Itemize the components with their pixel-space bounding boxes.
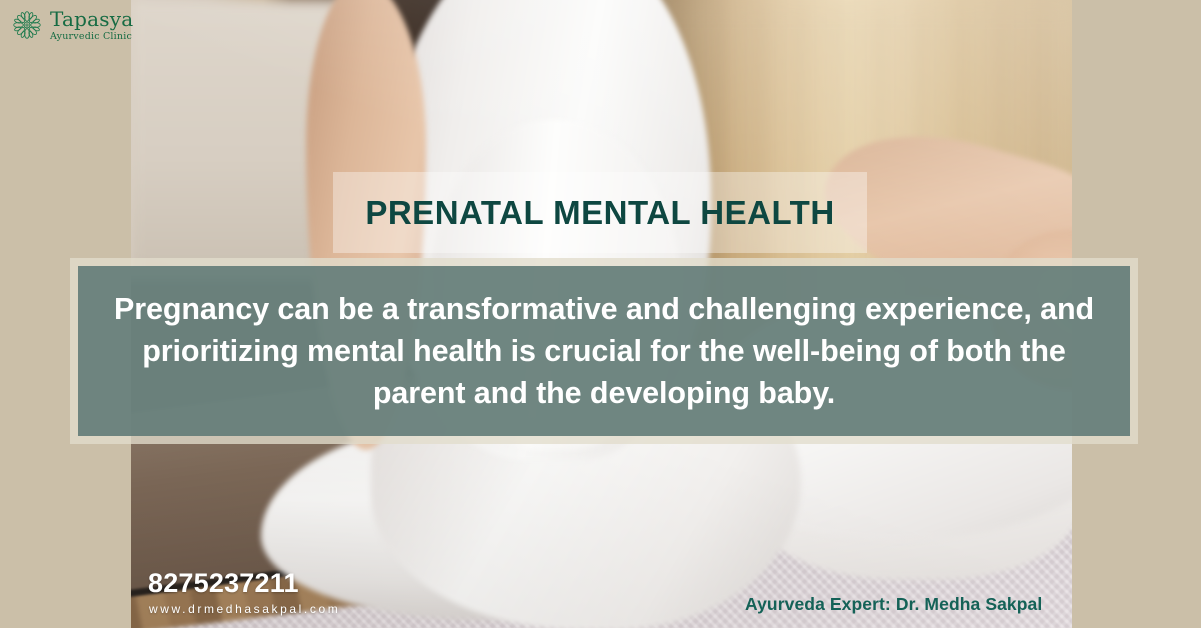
poster-canvas: Tapasya Ayurvedic Clinic PRENATAL MENTAL… xyxy=(0,0,1201,628)
brand-logo-text: Tapasya Ayurvedic Clinic xyxy=(50,9,133,42)
quote-text: Pregnancy can be a transformative and ch… xyxy=(96,288,1112,414)
contact-website[interactable]: www.drmedhasakpal.com xyxy=(149,602,340,616)
quote-box: Pregnancy can be a transformative and ch… xyxy=(78,266,1130,436)
expert-credit: Ayurveda Expert: Dr. Medha Sakpal xyxy=(745,594,1042,615)
contact-phone[interactable]: 8275237211 xyxy=(148,568,299,599)
brand-logo[interactable]: Tapasya Ayurvedic Clinic xyxy=(10,8,133,42)
brand-tagline: Ayurvedic Clinic xyxy=(50,32,133,42)
title-band: PRENATAL MENTAL HEALTH xyxy=(333,172,867,253)
mandala-lotus-icon xyxy=(10,8,44,42)
page-title: PRENATAL MENTAL HEALTH xyxy=(365,194,834,232)
quote-frame: Pregnancy can be a transformative and ch… xyxy=(70,258,1138,444)
brand-name: Tapasya xyxy=(50,7,133,31)
